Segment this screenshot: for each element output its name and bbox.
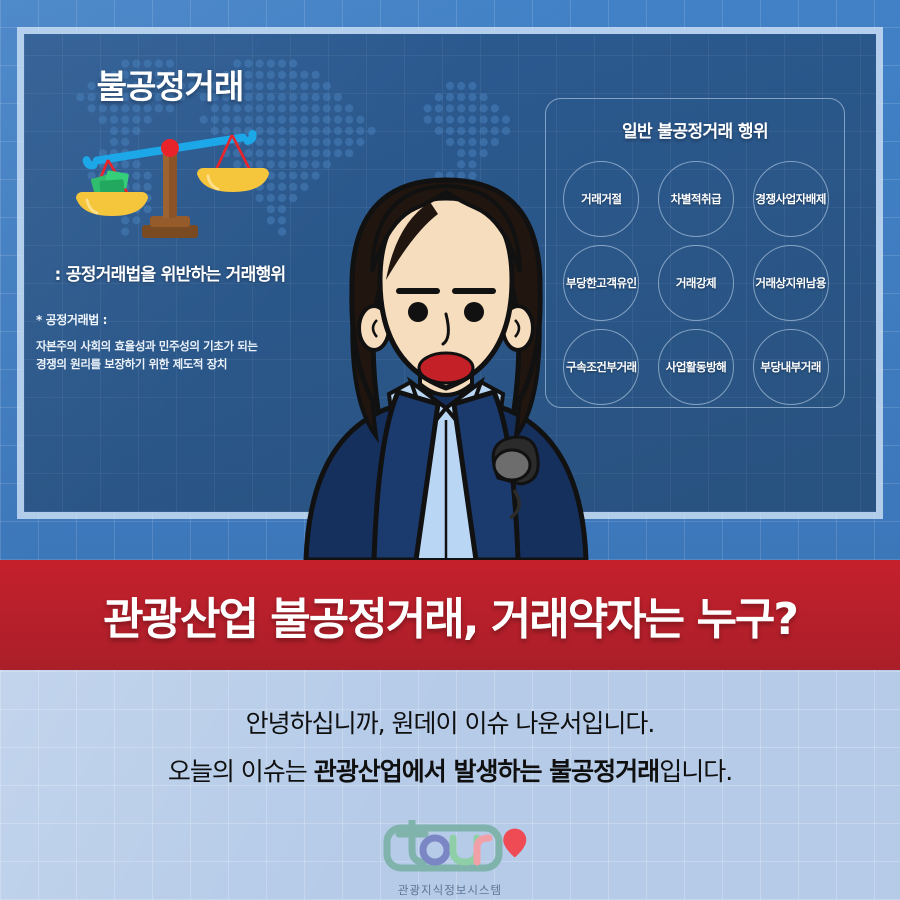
practice-bubble[interactable]: 부당내부거래 xyxy=(753,329,829,405)
practice-bubble-grid: 거래거절 차별적취급 경쟁사업자배제 부당한고객유인 거래강제 거래상지위남용 … xyxy=(554,161,838,405)
unfair-practices-card: 일반 불공정거래 행위 거래거절 차별적취급 경쟁사업자배제 부당한고객유인 거… xyxy=(545,98,845,408)
caption-section: 안녕하십니까, 원데이 이슈 나운서입니다. 오늘의 이슈는 관광산업에서 발생… xyxy=(0,670,900,900)
caption-line-2: 오늘의 이슈는 관광산업에서 발생하는 불공정거래입니다. xyxy=(0,752,900,788)
brand-logo[interactable]: 관광지식정보시스템 xyxy=(0,820,900,898)
practice-bubble[interactable]: 거래거절 xyxy=(563,161,639,237)
practice-bubble[interactable]: 거래강제 xyxy=(658,245,734,321)
practice-bubble[interactable]: 경쟁사업자배제 xyxy=(753,161,829,237)
practice-bubble[interactable]: 거래상지위남용 xyxy=(753,245,829,321)
caption-line-2-suffix: 입니다. xyxy=(659,757,732,786)
practice-bubble[interactable]: 부당한고객유인 xyxy=(563,245,639,321)
caption-line-2-highlight: 관광산업에서 발생하는 불공정거래 xyxy=(314,757,659,786)
infographic-slide: 불공정거래 xyxy=(0,0,900,900)
practice-bubble[interactable]: 차별적취급 xyxy=(658,161,734,237)
practice-bubble[interactable]: 사업활동방해 xyxy=(658,329,734,405)
hero-section: 불공정거래 xyxy=(0,0,900,560)
tourgo-logo-icon xyxy=(365,820,535,876)
practice-bubble[interactable]: 구속조건부거래 xyxy=(563,329,639,405)
caption-line-2-prefix: 오늘의 이슈는 xyxy=(168,757,314,786)
caption-line-1: 안녕하십니까, 원데이 이슈 나운서입니다. xyxy=(0,704,900,740)
page-title: 불공정거래 xyxy=(10,60,330,108)
logo-subtitle: 관광지식정보시스템 xyxy=(0,882,900,898)
headline-text: 관광산업 불공정거래, 거래약자는 누구? xyxy=(103,583,797,647)
headline-banner: 관광산업 불공정거래, 거래약자는 누구? xyxy=(0,560,900,670)
card-title: 일반 불공정거래 행위 xyxy=(546,117,844,142)
